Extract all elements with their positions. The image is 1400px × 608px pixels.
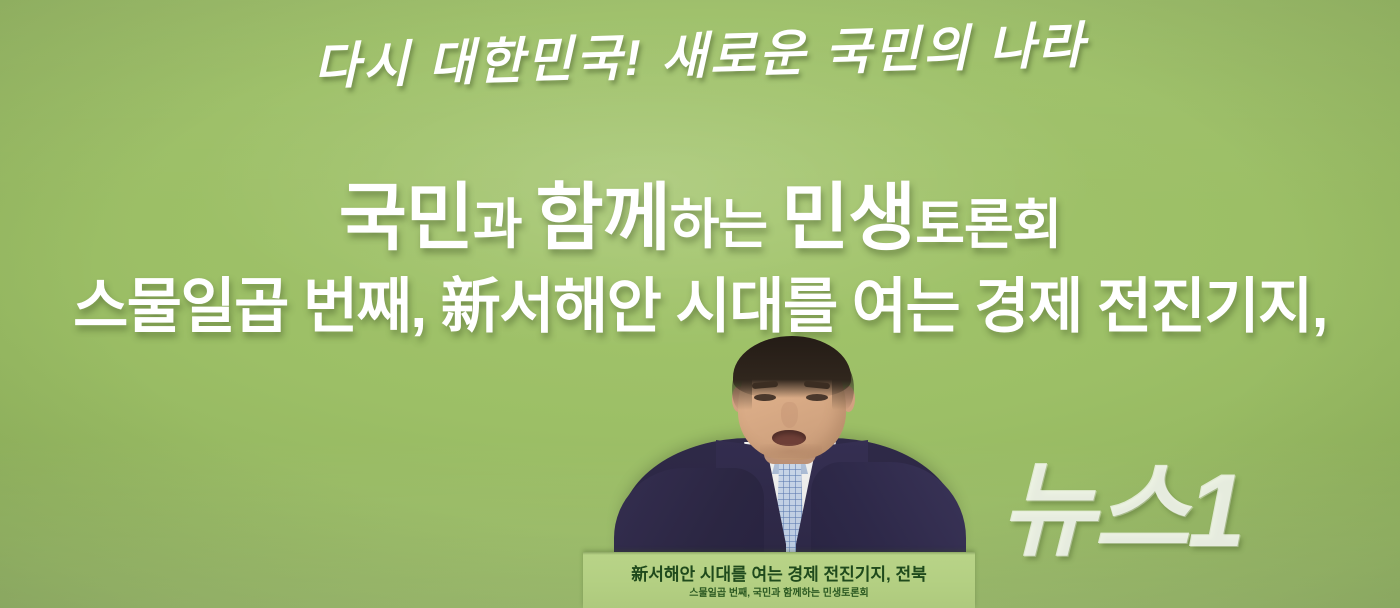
speaker-nose — [781, 402, 798, 428]
title-part-2: 함께 — [536, 176, 670, 259]
title-part-3: 하는 — [670, 195, 781, 255]
speaker-eye-right — [806, 394, 828, 401]
title-part-1: 과 — [473, 195, 536, 255]
title-part-5: 토론회 — [915, 195, 1061, 255]
podium-headline: 新서해안 시대를 여는 경제 전진기지, 전북 — [583, 560, 975, 585]
speaker-chin-shadow — [760, 444, 822, 458]
speaker-eye-left — [754, 394, 776, 401]
podium-sign: 新서해안 시대를 여는 경제 전진기지, 전북 스물일곱 번째, 국민과 함께하… — [583, 552, 975, 608]
speaker-hair — [733, 336, 851, 398]
podium-subline: 스물일곱 번째, 국민과 함께하는 민생토론회 — [583, 584, 975, 599]
title-part-0: 국민 — [339, 176, 473, 259]
backdrop-title: 국민과 함께하는 민생토론회 — [0, 158, 1400, 265]
title-part-4: 민생 — [781, 176, 915, 259]
photo-canvas: 다시 대한민국! 새로운 국민의 나라 국민과 함께하는 민생토론회 스물일곱 … — [0, 0, 1400, 608]
